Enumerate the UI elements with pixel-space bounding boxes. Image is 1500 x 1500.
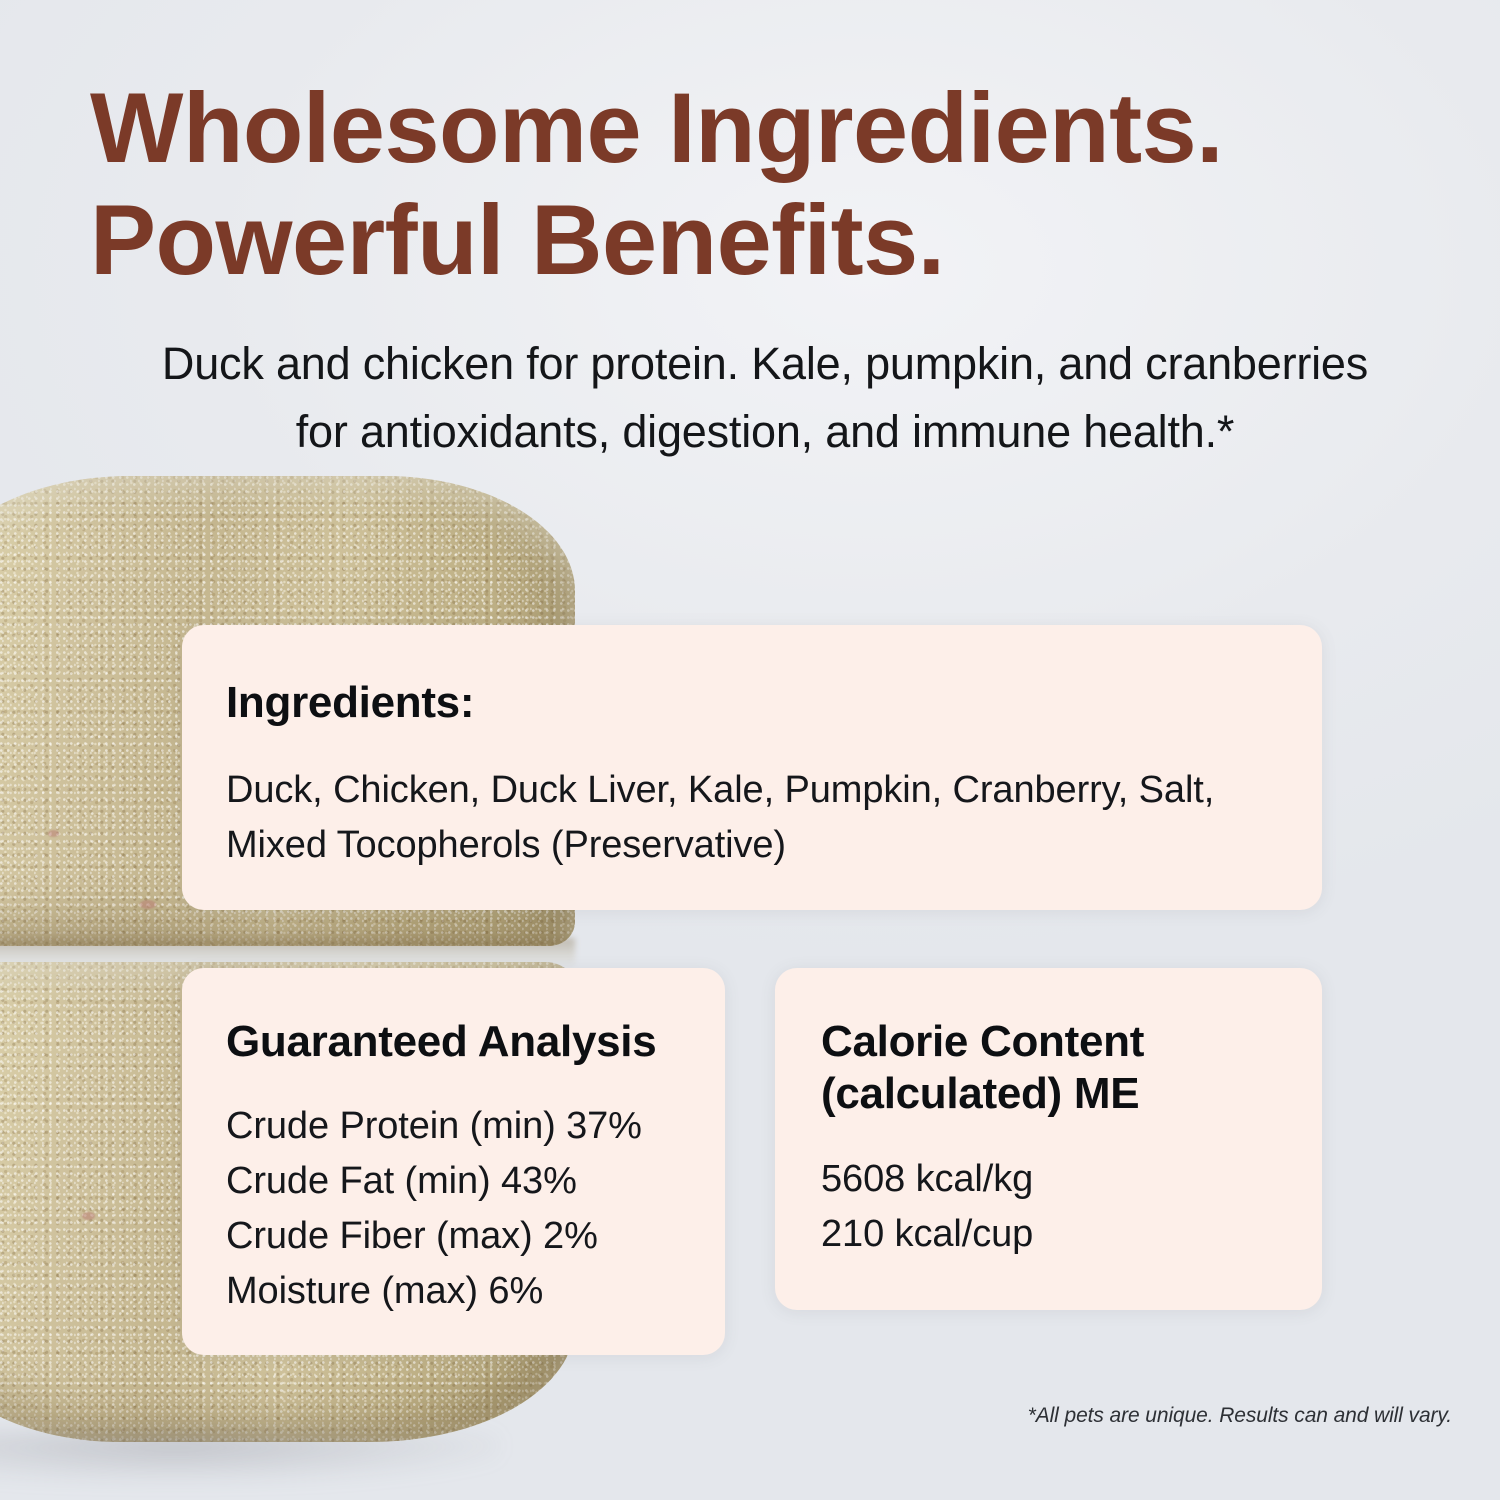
page-title: Wholesome Ingredients. Powerful Benefits… (90, 72, 1430, 296)
cranberry-fleck (82, 1212, 95, 1220)
ingredients-card: Ingredients: Duck, Chicken, Duck Liver, … (182, 625, 1322, 910)
ingredients-card-body: Duck, Chicken, Duck Liver, Kale, Pumpkin… (226, 763, 1266, 873)
guaranteed-analysis-rows: Crude Protein (min) 37% Crude Fat (min) … (226, 1099, 696, 1319)
analysis-row: Moisture (max) 6% (226, 1264, 696, 1319)
analysis-row: Crude Fiber (max) 2% (226, 1209, 696, 1264)
disclaimer-footnote: *All pets are unique. Results can and wi… (1028, 1404, 1452, 1428)
infographic-canvas: Wholesome Ingredients. Powerful Benefits… (0, 0, 1500, 1500)
calorie-row: 5608 kcal/kg (821, 1152, 1261, 1207)
hero-subheading: Duck and chicken for protein. Kale, pump… (150, 330, 1380, 467)
cranberry-fleck (48, 830, 59, 837)
calorie-content-title: Calorie Content (calculated) ME (821, 1016, 1261, 1120)
analysis-row: Crude Protein (min) 37% (226, 1099, 696, 1154)
calorie-content-card: Calorie Content (calculated) ME 5608 kca… (775, 968, 1322, 1310)
analysis-row: Crude Fat (min) 43% (226, 1154, 696, 1209)
product-shadow (0, 1430, 500, 1482)
guaranteed-analysis-card: Guaranteed Analysis Crude Protein (min) … (182, 968, 725, 1355)
calorie-content-rows: 5608 kcal/kg 210 kcal/cup (821, 1152, 1261, 1262)
ingredients-card-title: Ingredients: (226, 677, 474, 729)
cranberry-fleck (140, 900, 156, 909)
calorie-row: 210 kcal/cup (821, 1207, 1261, 1262)
guaranteed-analysis-title: Guaranteed Analysis (226, 1016, 696, 1068)
